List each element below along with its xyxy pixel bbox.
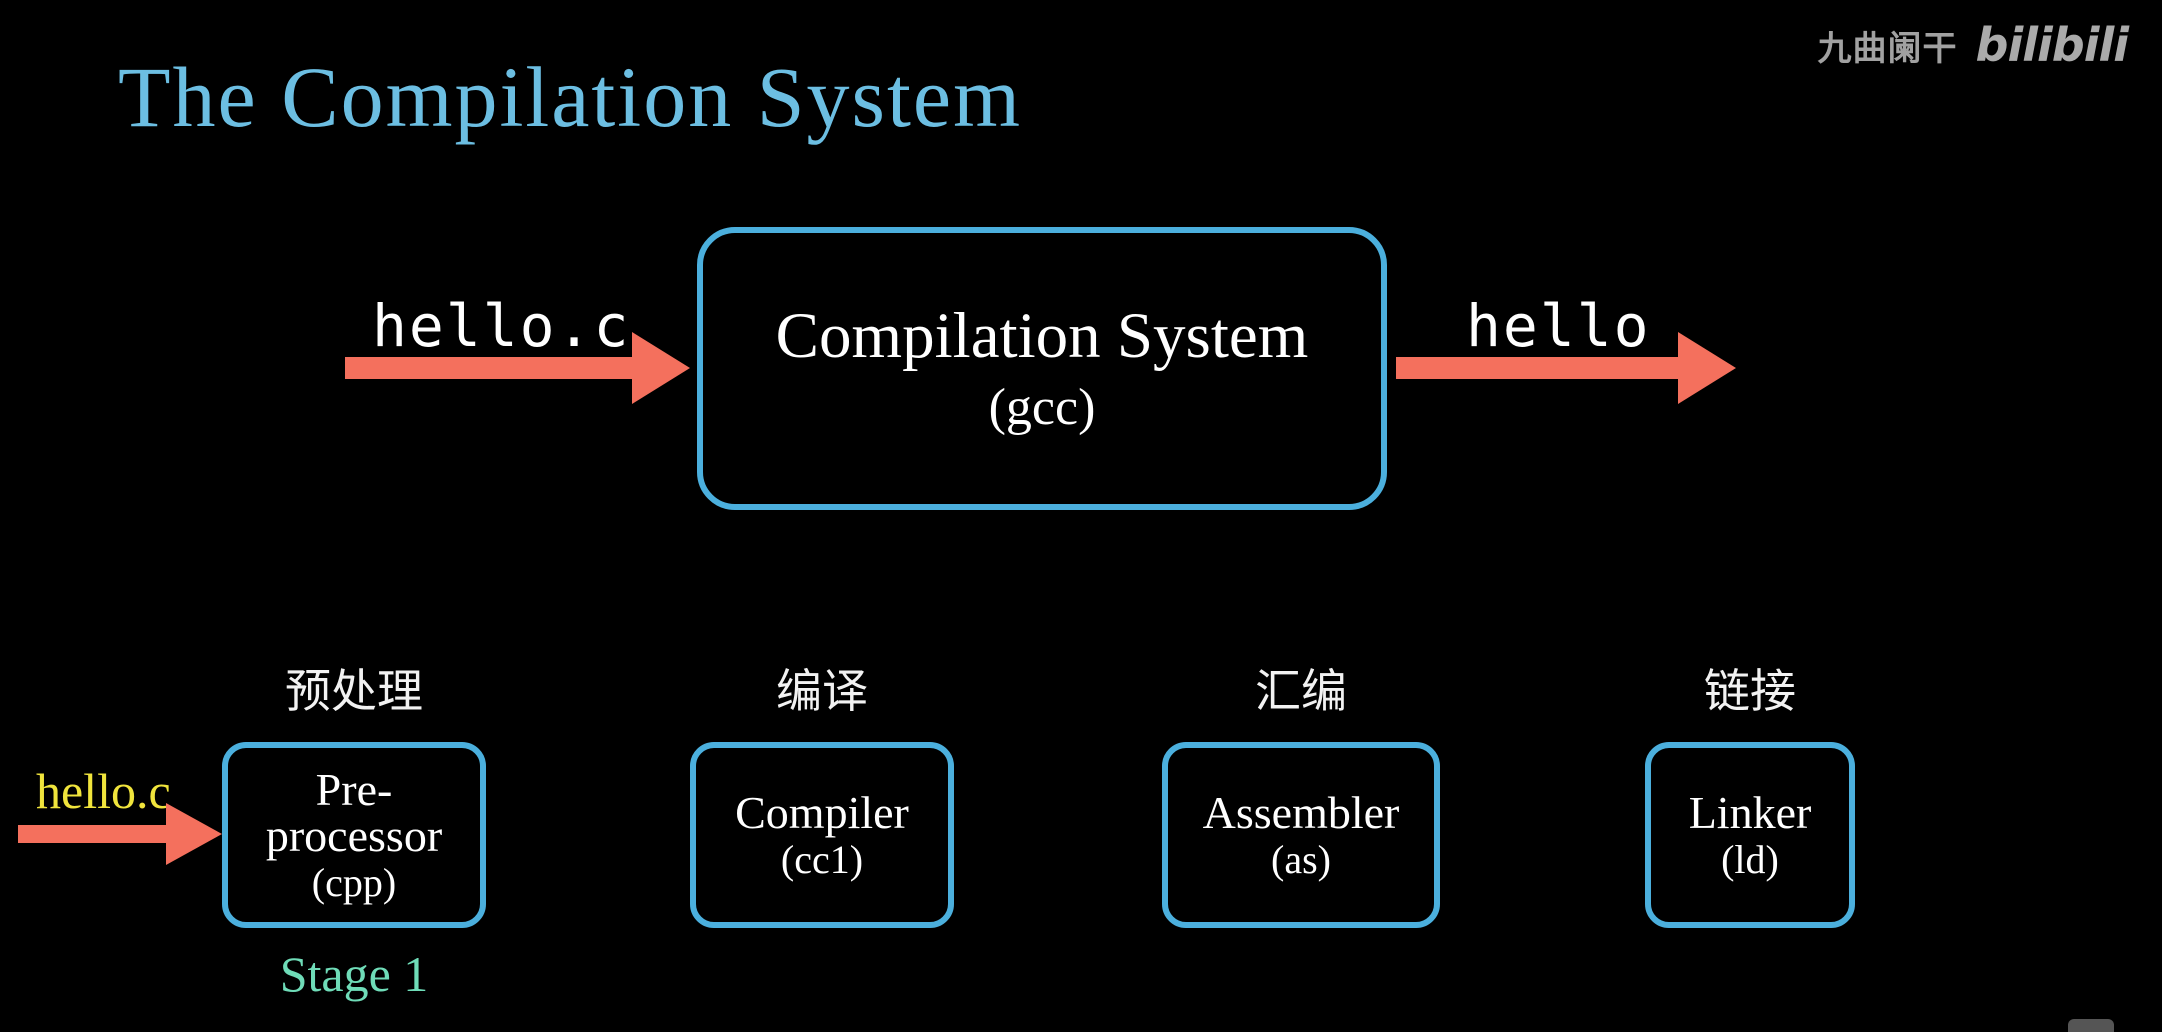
stage-box-subtitle: (as) bbox=[1271, 840, 1331, 880]
overview-input-label: hello.c bbox=[372, 292, 630, 360]
stage-box-title-line2: processor bbox=[266, 813, 442, 859]
arrow-head bbox=[166, 803, 222, 865]
compilation-system-subtitle: (gcc) bbox=[989, 379, 1096, 436]
stage-box-compiler: Compiler (cc1) bbox=[690, 742, 954, 928]
stage-box-title: Assembler bbox=[1203, 790, 1400, 836]
stage-box-subtitle: (ld) bbox=[1721, 840, 1779, 880]
compilation-system-box: Compilation System (gcc) bbox=[697, 227, 1387, 510]
arrow-shaft bbox=[18, 825, 170, 843]
stage-box-linker: Linker (ld) bbox=[1645, 742, 1855, 928]
slide-canvas: 九曲阑干 bilibili The Compilation System hel… bbox=[0, 0, 2162, 1032]
stage-number-caption: Stage 1 bbox=[222, 945, 486, 1003]
bilibili-logo-icon: bilibili bbox=[1976, 18, 2128, 72]
compilation-system-title: Compilation System bbox=[776, 301, 1309, 373]
watermark: 九曲阑干 bilibili bbox=[1818, 18, 2128, 72]
page-title: The Compilation System bbox=[118, 52, 1022, 142]
arrow-head bbox=[1678, 332, 1736, 404]
arrow-head bbox=[632, 332, 690, 404]
video-edge-artifact bbox=[2068, 1019, 2114, 1032]
stage-label-assemble: 汇编 bbox=[1162, 655, 1440, 721]
stage-box-title-line1: Pre- bbox=[316, 767, 393, 813]
stage-box-preprocessor: Pre- processor (cpp) bbox=[222, 742, 486, 928]
arrow-shaft bbox=[1396, 357, 1681, 379]
watermark-author: 九曲阑干 bbox=[1818, 21, 1958, 70]
stage-box-subtitle: (cc1) bbox=[781, 840, 863, 880]
stage-box-title: Linker bbox=[1689, 790, 1812, 836]
stage-label-link: 链接 bbox=[1645, 655, 1855, 721]
stage-box-assembler: Assembler (as) bbox=[1162, 742, 1440, 928]
arrow-shaft bbox=[345, 357, 635, 379]
stage-label-preprocess: 预处理 bbox=[222, 655, 486, 721]
overview-output-label: hello bbox=[1466, 292, 1651, 360]
stage-box-title: Compiler bbox=[735, 790, 909, 836]
stage-label-compile: 编译 bbox=[690, 655, 954, 721]
pipeline-input-label: hello.c bbox=[36, 762, 171, 820]
stage-box-subtitle: (cpp) bbox=[312, 863, 396, 903]
